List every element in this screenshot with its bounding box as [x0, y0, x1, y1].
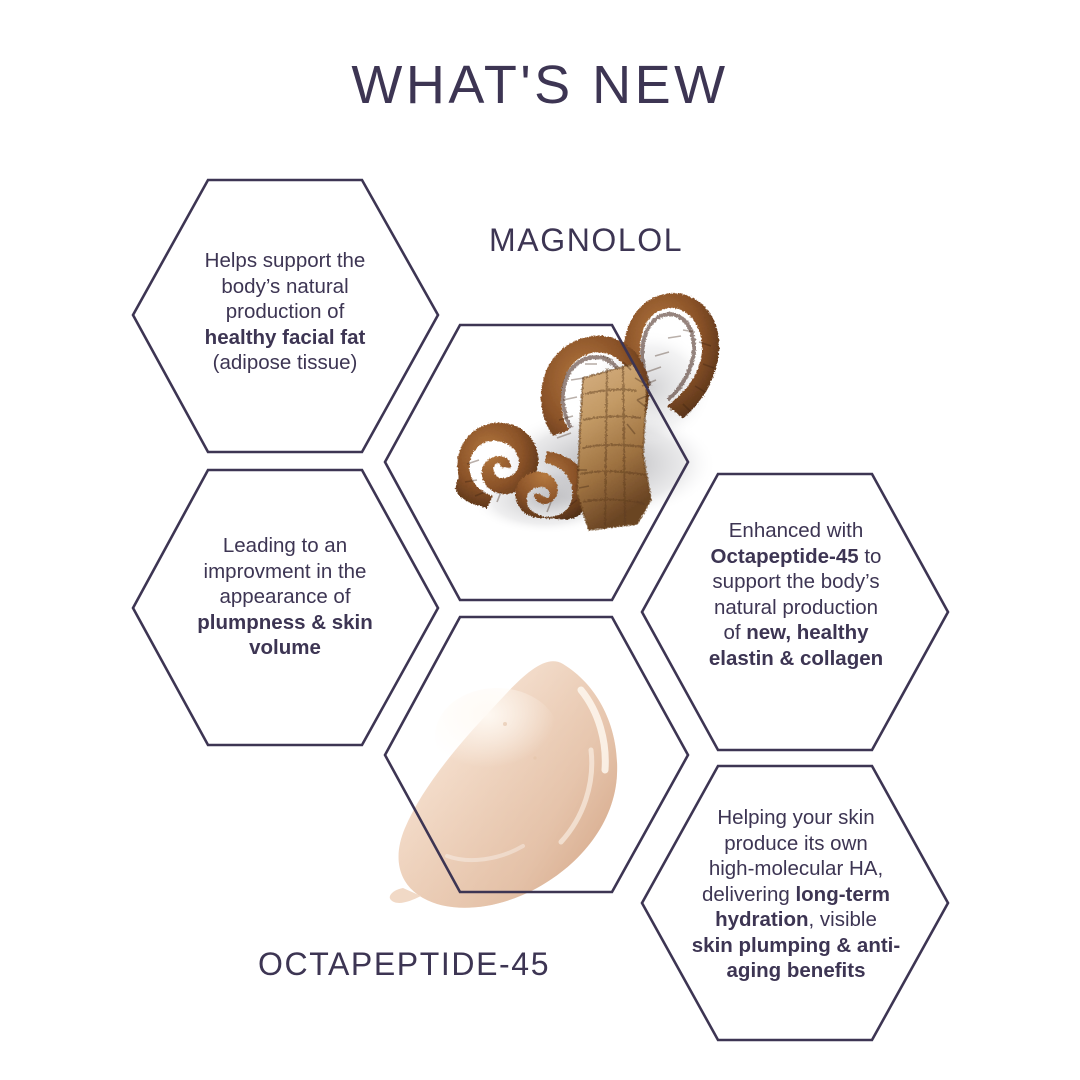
- hex-line: delivering long-term: [665, 882, 927, 908]
- hex-run: delivering: [702, 883, 795, 906]
- hex-line: Leading to an: [150, 533, 420, 559]
- hex-line: high-molecular HA,: [665, 856, 927, 882]
- hex-line: Helps support the: [150, 248, 420, 274]
- hex-emphasis: volume: [249, 636, 321, 659]
- hex-outline-octapeptide: [385, 617, 688, 892]
- hex-run: to: [859, 545, 882, 568]
- hex-line: Helping your skin: [665, 805, 927, 831]
- hex-run: high-molecular HA,: [709, 857, 883, 880]
- hex-line: hydration, visible: [665, 907, 927, 933]
- hex-line: healthy facial fat: [150, 325, 420, 351]
- hex-run: support the body’s: [712, 570, 879, 593]
- hex-run: natural production: [714, 596, 878, 619]
- hex-emphasis: healthy facial fat: [205, 326, 366, 349]
- hex-emphasis: aging benefits: [727, 959, 866, 982]
- hex-line: improvment in the: [150, 559, 420, 585]
- hex-run: appearance of: [219, 585, 350, 608]
- hex-emphasis: elastin & collagen: [709, 647, 883, 670]
- hex-line: support the body’s: [665, 569, 927, 595]
- hex-line: natural production: [665, 595, 927, 621]
- hex-line: (adipose tissue): [150, 350, 420, 376]
- ingredient-label-octapeptide: OCTAPEPTIDE-45: [258, 946, 550, 983]
- hex-run: Leading to an: [223, 534, 347, 557]
- hex-run: body’s natural: [221, 275, 348, 298]
- hex-outline-magnolol: [385, 325, 688, 600]
- hex-emphasis: hydration: [715, 908, 808, 931]
- hex-line: produce its own: [665, 831, 927, 857]
- hex-run: Helps support the: [205, 249, 366, 272]
- hex-line: production of: [150, 299, 420, 325]
- hex-run: produce its own: [724, 832, 868, 855]
- hex-text-enhanced-with: Enhanced withOctapeptide-45 tosupport th…: [665, 518, 927, 671]
- hex-line: plumpness & skin: [150, 610, 420, 636]
- hex-run: Enhanced with: [729, 519, 863, 542]
- hex-line: body’s natural: [150, 274, 420, 300]
- infographic-canvas: WHAT'S NEW: [0, 0, 1080, 1080]
- hex-line: of new, healthy: [665, 620, 927, 646]
- hex-emphasis: Octapeptide-45: [711, 545, 859, 568]
- hex-run: Helping your skin: [717, 806, 874, 829]
- hex-text-helping-skin: Helping your skinproduce its ownhigh-mol…: [665, 805, 927, 984]
- hex-emphasis: new, healthy: [746, 621, 868, 644]
- hex-run: of: [723, 621, 746, 644]
- hex-line: aging benefits: [665, 958, 927, 984]
- ingredient-label-magnolol: MAGNOLOL: [489, 222, 683, 259]
- hex-run: production of: [226, 300, 345, 323]
- hex-text-helps-support: Helps support thebody’s naturalproductio…: [150, 248, 420, 376]
- hex-run: , visible: [809, 908, 877, 931]
- hex-text-leading-to: Leading to animprovment in theappearance…: [150, 533, 420, 661]
- hex-emphasis: plumpness & skin: [197, 611, 372, 634]
- hex-line: appearance of: [150, 584, 420, 610]
- hex-run: (adipose tissue): [213, 351, 358, 374]
- hex-line: Enhanced with: [665, 518, 927, 544]
- hex-line: elastin & collagen: [665, 646, 927, 672]
- hex-line: skin plumping & anti-: [665, 933, 927, 959]
- hex-line: Octapeptide-45 to: [665, 544, 927, 570]
- hex-emphasis: skin plumping & anti-: [692, 934, 900, 957]
- hex-run: improvment in the: [204, 560, 367, 583]
- hex-line: volume: [150, 635, 420, 661]
- hex-emphasis: long-term: [795, 883, 890, 906]
